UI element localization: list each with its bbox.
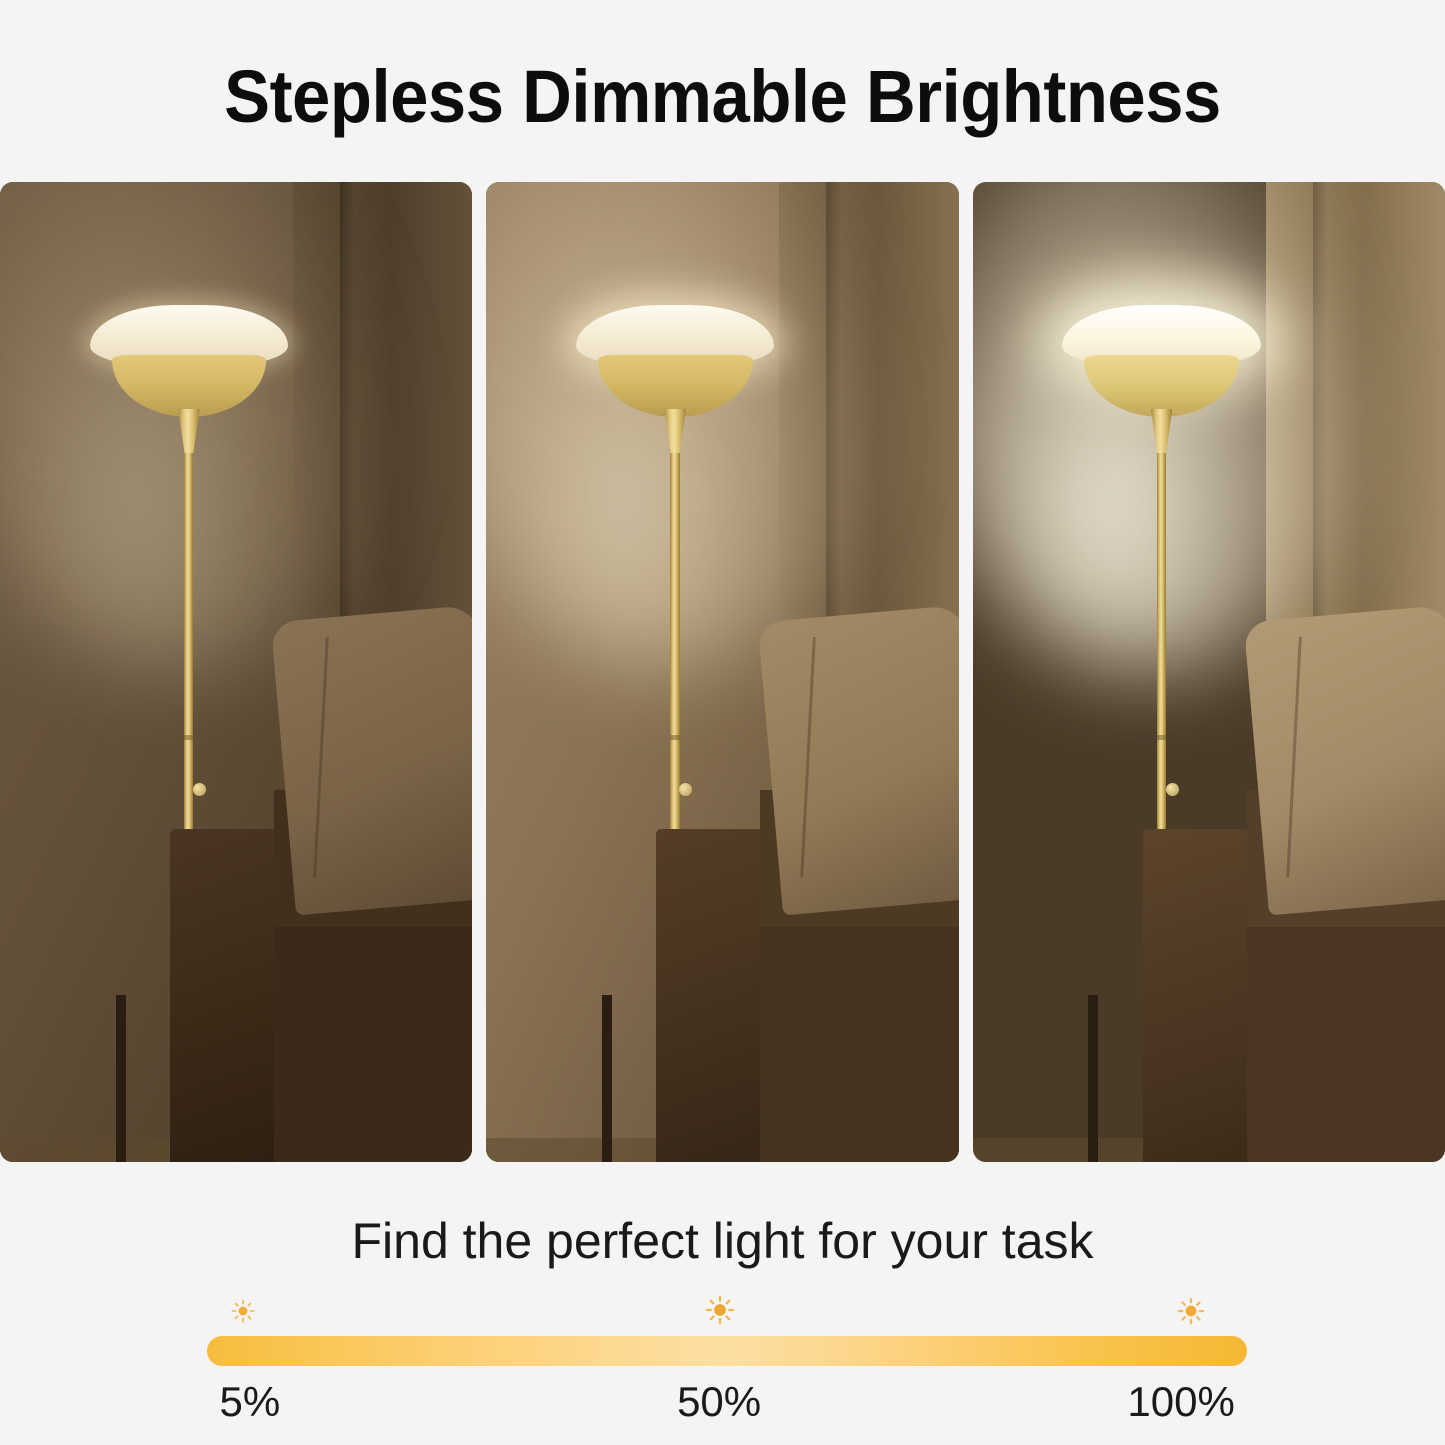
sofa-pillow: [271, 605, 472, 916]
sun-icon: [230, 1298, 256, 1324]
lamp-foot: [116, 995, 126, 1162]
lamp-switch-knob[interactable]: [679, 783, 692, 796]
lamp-gold-bowl: [1084, 355, 1239, 417]
sofa-seat: [274, 927, 472, 1162]
caption-text: Find the perfect light for your task: [0, 1212, 1445, 1270]
baseboard: [0, 1138, 189, 1162]
baseboard: [486, 1138, 675, 1162]
sun-icon: [1176, 1296, 1206, 1326]
sofa-seat: [1247, 927, 1445, 1162]
lamp-pole-joint: [670, 735, 679, 740]
pillow-seam: [1287, 637, 1303, 878]
brightness-comparison-gallery: [0, 182, 1445, 1162]
lamp-gold-bowl: [598, 355, 753, 417]
product-feature-image: Stepless Dimmable Brightness: [0, 0, 1445, 1445]
sun-icon-row: [207, 1290, 1247, 1336]
full-brightness-photo[interactable]: [973, 182, 1445, 1162]
lamp-neck: [1151, 409, 1173, 455]
baseboard: [973, 1138, 1162, 1162]
sofa-pillow: [757, 605, 958, 916]
sofa-seat: [760, 927, 958, 1162]
slider-track[interactable]: [207, 1336, 1247, 1366]
lamp-switch-knob[interactable]: [193, 783, 206, 796]
sun-icon: [704, 1294, 736, 1326]
page-title: Stepless Dimmable Brightness: [51, 54, 1395, 139]
slider-label-max: 100%: [1127, 1378, 1234, 1426]
lamp-switch-knob[interactable]: [1166, 783, 1179, 796]
slider-label-min: 5%: [219, 1378, 280, 1426]
brightness-slider[interactable]: 5% 50% 100%: [207, 1290, 1247, 1438]
lamp-pole-joint: [184, 735, 193, 740]
pillow-seam: [314, 637, 330, 878]
pillow-seam: [800, 637, 816, 878]
lamp-neck: [178, 409, 200, 455]
lamp-foot: [602, 995, 612, 1162]
lamp-pole-joint: [1157, 735, 1166, 740]
sofa-pillow: [1244, 605, 1445, 916]
lamp-foot: [1088, 995, 1098, 1162]
dim-brightness-photo[interactable]: [0, 182, 472, 1162]
medium-brightness-photo[interactable]: [486, 182, 958, 1162]
lamp-neck: [664, 409, 686, 455]
lamp-gold-bowl: [112, 355, 267, 417]
slider-label-mid: 50%: [677, 1378, 761, 1426]
slider-labels: 5% 50% 100%: [207, 1378, 1247, 1438]
